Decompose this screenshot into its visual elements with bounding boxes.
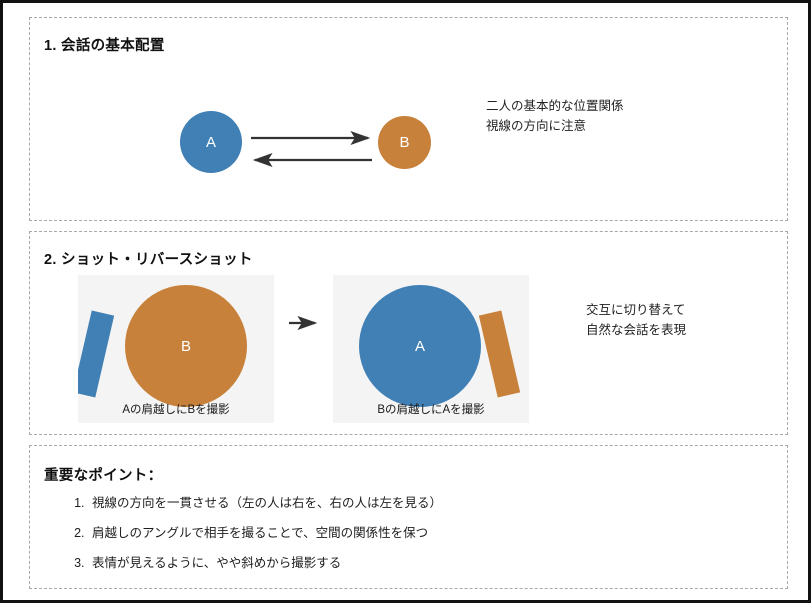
basic-arrangement-diagram: A B (150, 98, 440, 188)
shoulder-bar-a (78, 310, 114, 397)
diagram-canvas: 1. 会話の基本配置 A B (0, 0, 811, 603)
shoulder-bar-b (479, 310, 520, 397)
person-a-circle: A (180, 111, 242, 173)
section-key-points: 重要なポイント： 視線の方向を一貫させる（左の人は右を、右の人は左を見る） 肩越… (29, 445, 788, 589)
basic-note-line-2: 視線の方向に注意 (486, 116, 624, 136)
subject-b-circle: B (125, 285, 247, 407)
person-b-label: B (399, 134, 409, 151)
shot-panel-left-caption: Aの肩越しにBを撮影 (78, 401, 274, 417)
section-shot-title: 2. ショット・リバースショット (44, 248, 253, 269)
shot-note-line-1: 交互に切り替えて (586, 300, 686, 320)
subject-a-label: A (415, 338, 425, 355)
shot-side-note: 交互に切り替えて 自然な会話を表現 (586, 300, 686, 340)
subject-a-circle: A (359, 285, 481, 407)
panel-transition-arrow (287, 311, 327, 335)
person-b-circle: B (378, 116, 431, 169)
key-points-list: 視線の方向を一貫させる（左の人は右を、右の人は左を見る） 肩越しのアングルで相手… (60, 496, 442, 586)
section-points-title: 重要なポイント： (44, 464, 162, 485)
shot-note-line-2: 自然な会話を表現 (586, 320, 686, 340)
subject-b-label: B (181, 338, 191, 355)
section-basic-title: 1. 会話の基本配置 (44, 34, 165, 55)
key-point-item: 視線の方向を一貫させる（左の人は右を、右の人は左を見る） (88, 496, 442, 511)
shot-panel-right-caption: Bの肩越しにAを撮影 (333, 401, 529, 417)
section-basic-arrangement: 1. 会話の基本配置 A B (29, 17, 788, 221)
key-point-item: 表情が見えるように、やや斜めから撮影する (88, 556, 442, 571)
shot-panel-over-b-shoulder: A Bの肩越しにAを撮影 (333, 275, 529, 423)
person-a-label: A (206, 134, 216, 151)
shot-panel-over-a-shoulder: B Aの肩越しにBを撮影 (78, 275, 274, 423)
basic-side-note: 二人の基本的な位置関係 視線の方向に注意 (486, 96, 624, 136)
basic-note-line-1: 二人の基本的な位置関係 (486, 96, 624, 116)
key-point-item: 肩越しのアングルで相手を撮ることで、空間の関係性を保つ (88, 526, 442, 541)
